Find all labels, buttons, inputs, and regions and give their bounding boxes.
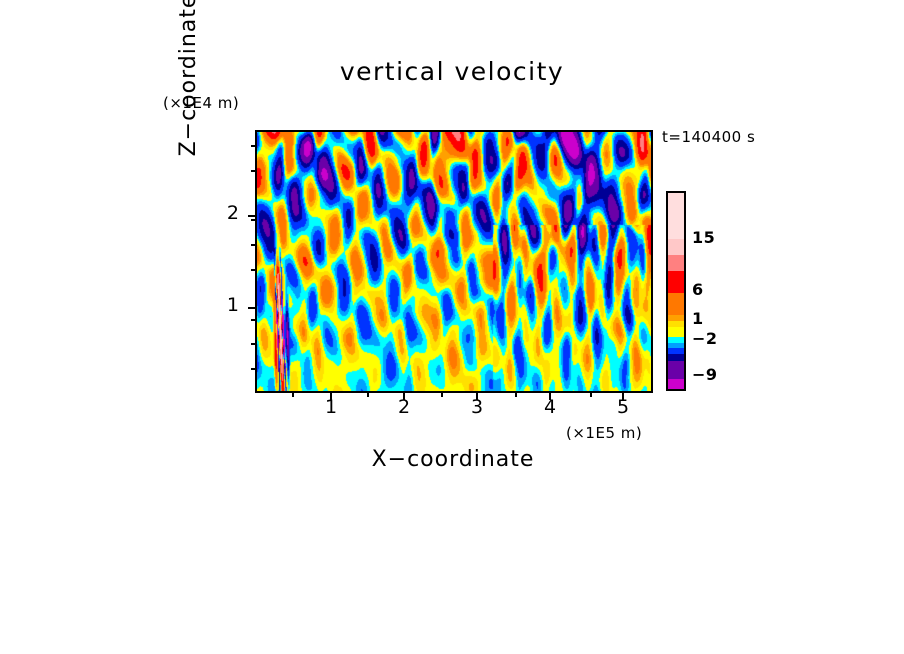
y-tick-label-1: 1: [213, 294, 239, 316]
colorbar-label-0: 15: [692, 228, 715, 247]
colorbar-band-4: [668, 293, 684, 315]
y-minor-tick: [251, 319, 255, 321]
y-minor-tick: [251, 269, 255, 271]
colorbar: [666, 191, 686, 391]
colorbar-band-1: [668, 239, 684, 255]
x-tick-label-3: 4: [530, 396, 570, 418]
plot-area: [255, 130, 653, 393]
y-minor-tick: [251, 145, 255, 147]
colorbar-band-13: [668, 379, 684, 391]
time-annotation: t=140400 s: [662, 128, 755, 146]
colorbar-label-4: −9: [692, 365, 718, 384]
x-tick-label-1: 2: [384, 396, 424, 418]
y-axis-title: Z−coordinate: [176, 0, 201, 175]
y-minor-tick: [251, 219, 255, 221]
x-tick-label-4: 5: [603, 396, 643, 418]
y-axis-unit-label: (×1E4 m): [163, 94, 239, 112]
colorbar-band-0: [668, 193, 684, 239]
y-tick-0: [248, 215, 255, 217]
colorbar-band-3: [668, 271, 684, 293]
y-tick-label-0: 2: [213, 202, 239, 224]
colorbar-band-12: [668, 361, 684, 379]
y-minor-tick: [251, 343, 255, 345]
colorbar-band-7: [668, 327, 684, 337]
x-minor-tick: [292, 393, 294, 397]
x-axis-title: X−coordinate: [253, 447, 653, 472]
x-axis-unit-label: (×1E5 m): [566, 424, 642, 442]
page-title: vertical velocity: [0, 57, 904, 86]
vertical-velocity-field: [257, 132, 651, 391]
colorbar-label-1: 6: [692, 280, 704, 299]
x-minor-tick: [367, 393, 369, 397]
colorbar-label-2: 1: [692, 309, 704, 328]
y-minor-tick: [251, 368, 255, 370]
y-minor-tick: [251, 170, 255, 172]
x-minor-tick: [515, 393, 517, 397]
colorbar-band-11: [668, 354, 684, 361]
x-minor-tick: [441, 393, 443, 397]
x-tick-label-0: 1: [311, 396, 351, 418]
y-minor-tick: [251, 244, 255, 246]
colorbar-band-2: [668, 255, 684, 271]
x-minor-tick: [590, 393, 592, 397]
y-tick-1: [248, 307, 255, 309]
x-tick-label-2: 3: [457, 396, 497, 418]
colorbar-label-3: −2: [692, 329, 718, 348]
